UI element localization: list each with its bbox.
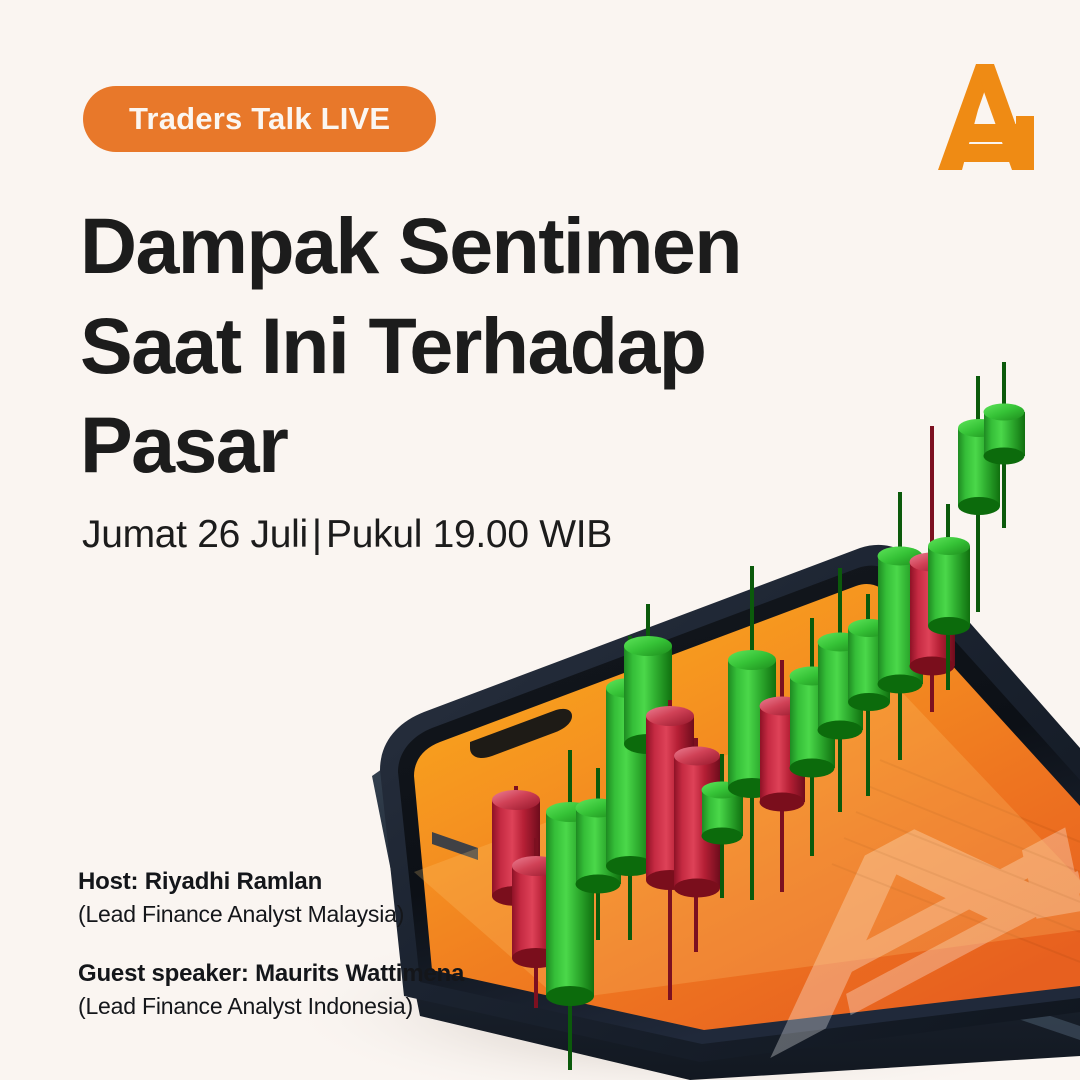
promo-poster: Traders Talk LIVE Dampak Sentimen Saat I… [0,0,1080,1080]
live-badge[interactable]: Traders Talk LIVE [83,86,436,152]
headline-line-1: Dampak Sentimen [80,196,840,296]
guest-credit: Guest speaker: Maurits Wattimena (Lead F… [78,958,464,1022]
guest-role: (Lead Finance Analyst Indonesia) [78,990,464,1023]
schedule-separator: | [308,513,326,557]
speaker-credits: Host: Riyadhi Ramlan (Lead Finance Analy… [78,866,464,1023]
host-role: (Lead Finance Analyst Malaysia) [78,898,464,931]
headline-line-3: Pasar [80,395,840,495]
event-date: Jumat 26 Juli [82,513,308,557]
live-badge-label: Traders Talk LIVE [129,101,390,137]
host-credit: Host: Riyadhi Ramlan (Lead Finance Analy… [78,866,464,930]
ascend-a-logo [932,58,1042,176]
event-time: Pukul 19.00 WIB [326,513,612,557]
page-title: Dampak Sentimen Saat Ini Terhadap Pasar [80,196,840,495]
guest-name: Guest speaker: Maurits Wattimena [78,958,464,990]
event-schedule: Jumat 26 Juli | Pukul 19.00 WIB [82,513,612,557]
headline-line-2: Saat Ini Terhadap [80,296,840,396]
host-name: Host: Riyadhi Ramlan [78,866,464,898]
